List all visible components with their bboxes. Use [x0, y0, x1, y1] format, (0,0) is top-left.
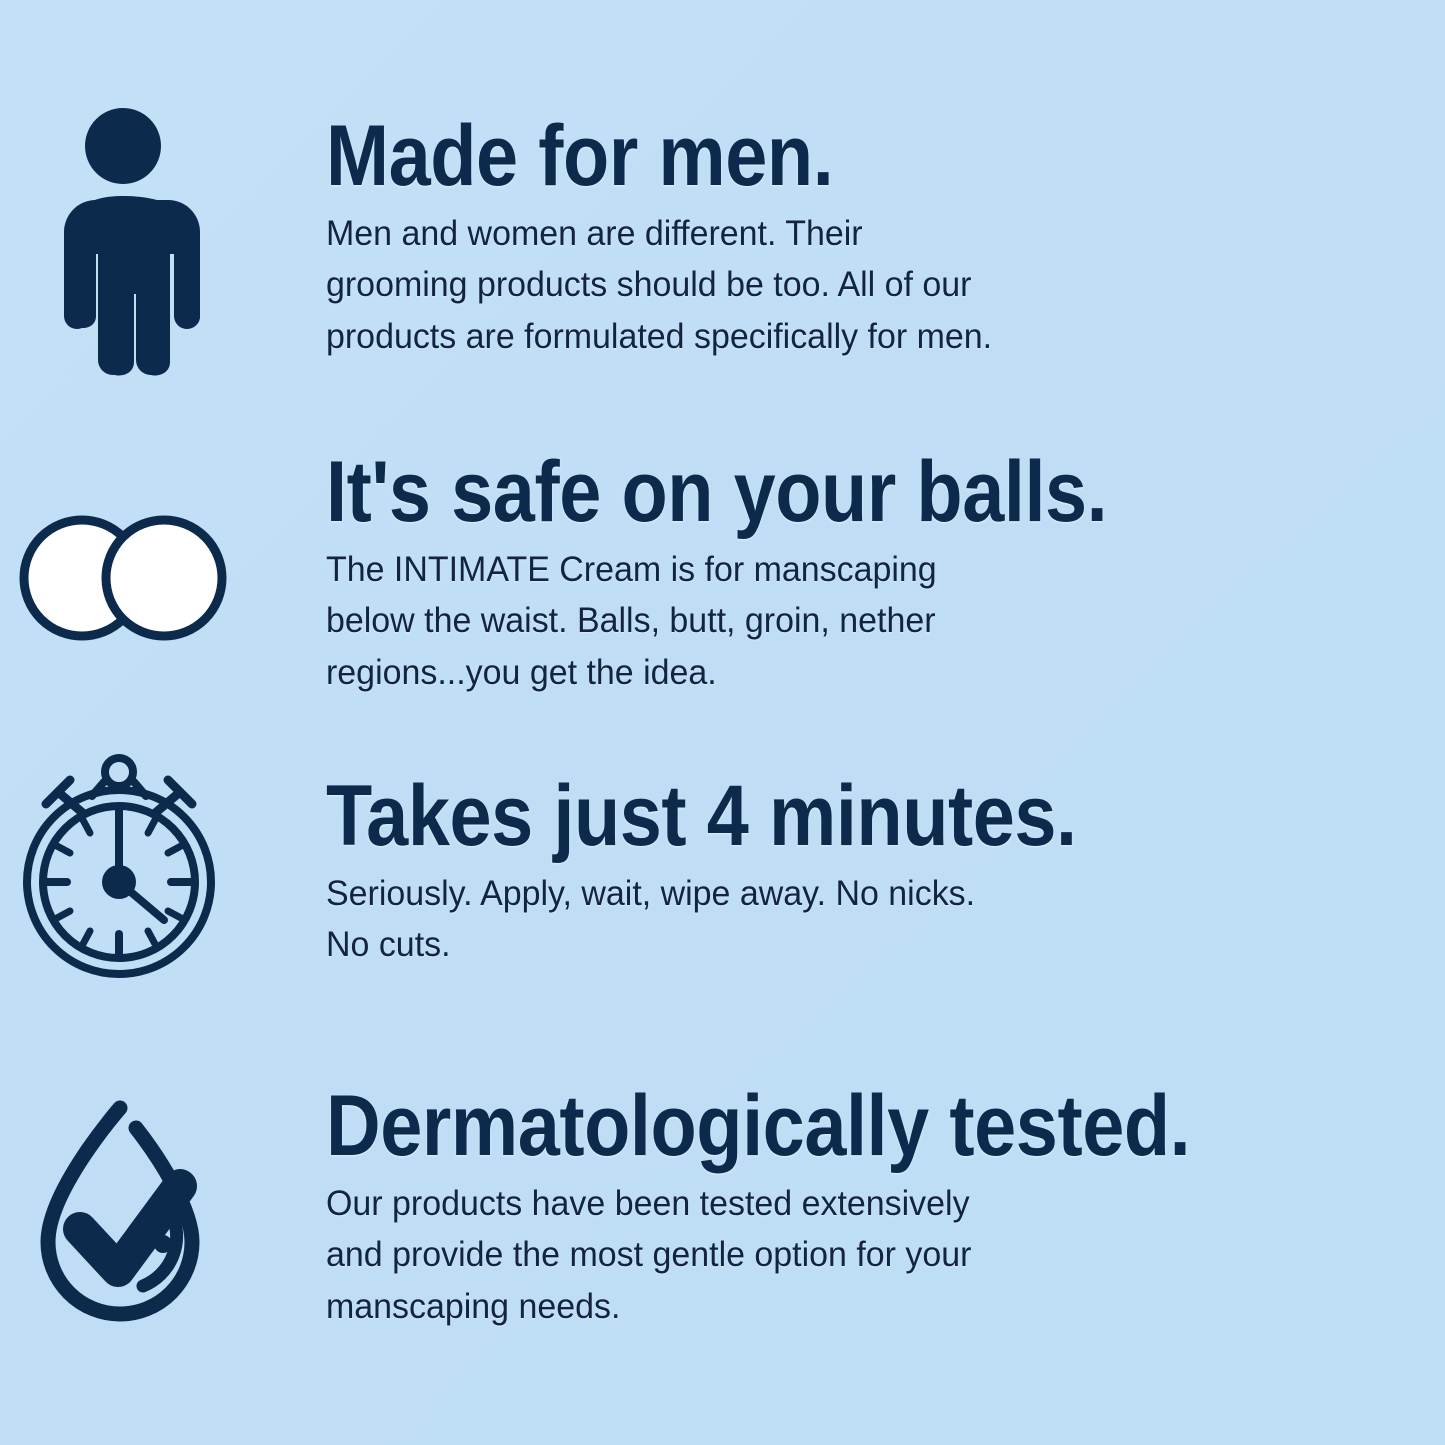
feature-headline: Takes just 4 minutes.: [326, 776, 1077, 858]
feature-body-line: manscaping needs.: [326, 1287, 620, 1326]
feature-text-block: Takes just 4 minutes. Seriously. Apply, …: [326, 776, 1179, 971]
feature-headline: Dermatologically tested.: [326, 1086, 1190, 1168]
feature-text-block: Made for men. Men and women are differen…: [326, 116, 1013, 363]
feature-text-block: Dermatologically tested. Our products ha…: [326, 1086, 1308, 1333]
feature-body-line: grooming products should be too. All of …: [326, 265, 971, 304]
feature-body: Our products have been tested extensivel…: [326, 1178, 1279, 1333]
feature-body: Men and women are different. Their groom…: [326, 208, 992, 363]
feature-body-line: Our products have been tested extensivel…: [326, 1184, 970, 1223]
feature-text-block: It's safe on your balls. The INTIMATE Cr…: [326, 452, 1214, 699]
droplet-check-icon: [30, 1094, 210, 1330]
feature-list-panel: Made for men. Men and women are differen…: [0, 0, 1445, 1445]
person-icon: [48, 104, 198, 384]
stopwatch-icon: [14, 752, 224, 982]
two-circles-icon: [14, 508, 236, 648]
feature-body-line: and provide the most gentle option for y…: [326, 1235, 971, 1274]
feature-headline: It's safe on your balls.: [326, 452, 1107, 534]
feature-body-line: The INTIMATE Cream is for manscaping: [326, 550, 937, 589]
feature-body-line: Men and women are different. Their: [326, 214, 863, 253]
feature-body-line: No cuts.: [326, 925, 451, 964]
feature-body: The INTIMATE Cream is for manscaping bel…: [326, 544, 1187, 699]
feature-body-line: below the waist. Balls, butt, groin, net…: [326, 601, 936, 640]
feature-body-line: regions...you get the idea.: [326, 653, 717, 692]
feature-body-line: products are formulated specifically for…: [326, 317, 992, 356]
feature-headline: Made for men.: [326, 116, 930, 198]
feature-body: Seriously. Apply, wait, wipe away. No ni…: [326, 868, 1153, 972]
feature-body-line: Seriously. Apply, wait, wipe away. No ni…: [326, 874, 975, 913]
